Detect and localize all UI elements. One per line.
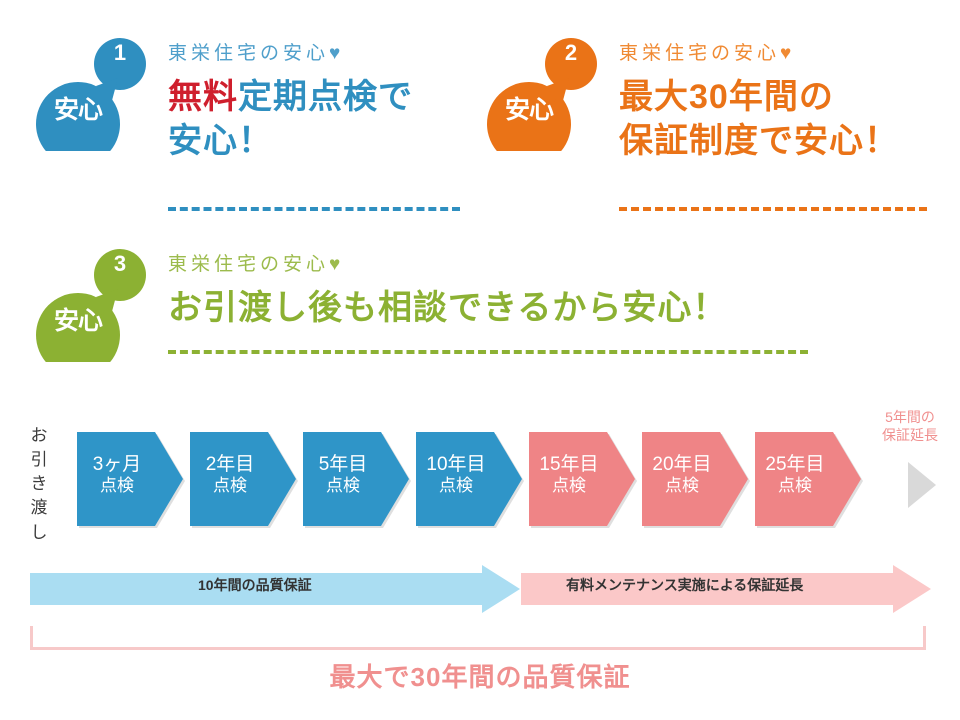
assurance-subtitle-3: 東栄住宅の安心♥ xyxy=(168,255,727,274)
timeline-step-4[interactable]: 10年目 点検 xyxy=(414,430,524,528)
chevron-icon xyxy=(75,430,185,528)
timeline-step-1[interactable]: 3ヶ月 点検 xyxy=(75,430,185,528)
assurance-headline-line1-2: 最大30年間の xyxy=(619,76,899,120)
handover-label: お 引 き 渡 し xyxy=(26,424,52,545)
total-coverage-caption: 最大で30年間の品質保証 xyxy=(0,664,960,690)
assurance-badge-3: 3 安心 xyxy=(36,247,146,362)
assurance-divider-3 xyxy=(168,350,808,354)
chevron-icon xyxy=(301,430,411,528)
paid-maintenance-extension-bar: 有料メンテナンス実施による保証延長 xyxy=(521,565,931,613)
badge-shape-icon xyxy=(36,36,146,151)
assurance-divider-1 xyxy=(168,207,460,211)
quality-guarantee-bar: 10年間の品質保証 xyxy=(30,565,520,613)
assurance-headline-rest-1: 定期点検で xyxy=(238,78,413,116)
timeline-step-5[interactable]: 15年目 点検 xyxy=(527,430,637,528)
timeline-step-6[interactable]: 20年目 点検 xyxy=(640,430,750,528)
timeline-continuation-arrow xyxy=(908,462,938,513)
handover-char-3: き xyxy=(26,472,52,496)
quality-guarantee-bar-label: 10年間の品質保証 xyxy=(198,578,312,592)
extension-note-line1: 5年間の xyxy=(862,408,958,426)
triangle-right-icon xyxy=(908,462,938,508)
assurance-headline-line2-1: 安心！ xyxy=(168,120,413,164)
extension-note: 5年間の 保証延長 xyxy=(862,408,958,445)
extension-note-line2: 保証延長 xyxy=(862,426,958,444)
handover-char-1: お xyxy=(26,424,52,448)
assurance-headline-2: 最大30年間の 保証制度で安心！ xyxy=(619,76,899,163)
assurance-headline-line2-2: 保証制度で安心！ xyxy=(619,120,899,164)
timeline-step-7[interactable]: 25年目 点検 xyxy=(753,430,863,528)
chevron-icon xyxy=(414,430,524,528)
assurance-divider-2 xyxy=(619,207,927,211)
assurance-headline-1: 無料定期点検で 安心！ xyxy=(168,76,413,163)
assurance-badge-1: 1 安心 xyxy=(36,36,146,151)
total-coverage-bracket xyxy=(30,626,926,650)
chevron-icon xyxy=(753,430,863,528)
assurance-headline-highlight-1: 無料 xyxy=(168,78,238,116)
badge-shape-icon xyxy=(487,36,597,151)
chevron-icon xyxy=(188,430,298,528)
chevron-icon xyxy=(527,430,637,528)
chevron-icon xyxy=(640,430,750,528)
assurance-subtitle-1: 東栄住宅の安心♥ xyxy=(168,44,413,63)
timeline-step-3[interactable]: 5年目 点検 xyxy=(301,430,411,528)
assurance-badge-2: 2 安心 xyxy=(487,36,597,151)
timeline-step-2[interactable]: 2年目 点検 xyxy=(188,430,298,528)
assurance-subtitle-2: 東栄住宅の安心♥ xyxy=(619,44,899,63)
paid-maintenance-extension-bar-label: 有料メンテナンス実施による保証延長 xyxy=(566,578,803,592)
handover-char-5: し xyxy=(26,521,52,545)
handover-char-2: 引 xyxy=(26,448,52,472)
assurance-headline-line1-3: お引渡し後も相談できるから安心！ xyxy=(168,287,727,331)
assurance-headline-3: お引渡し後も相談できるから安心！ xyxy=(168,287,727,331)
handover-char-4: 渡 xyxy=(26,496,52,520)
badge-shape-icon xyxy=(36,247,146,362)
